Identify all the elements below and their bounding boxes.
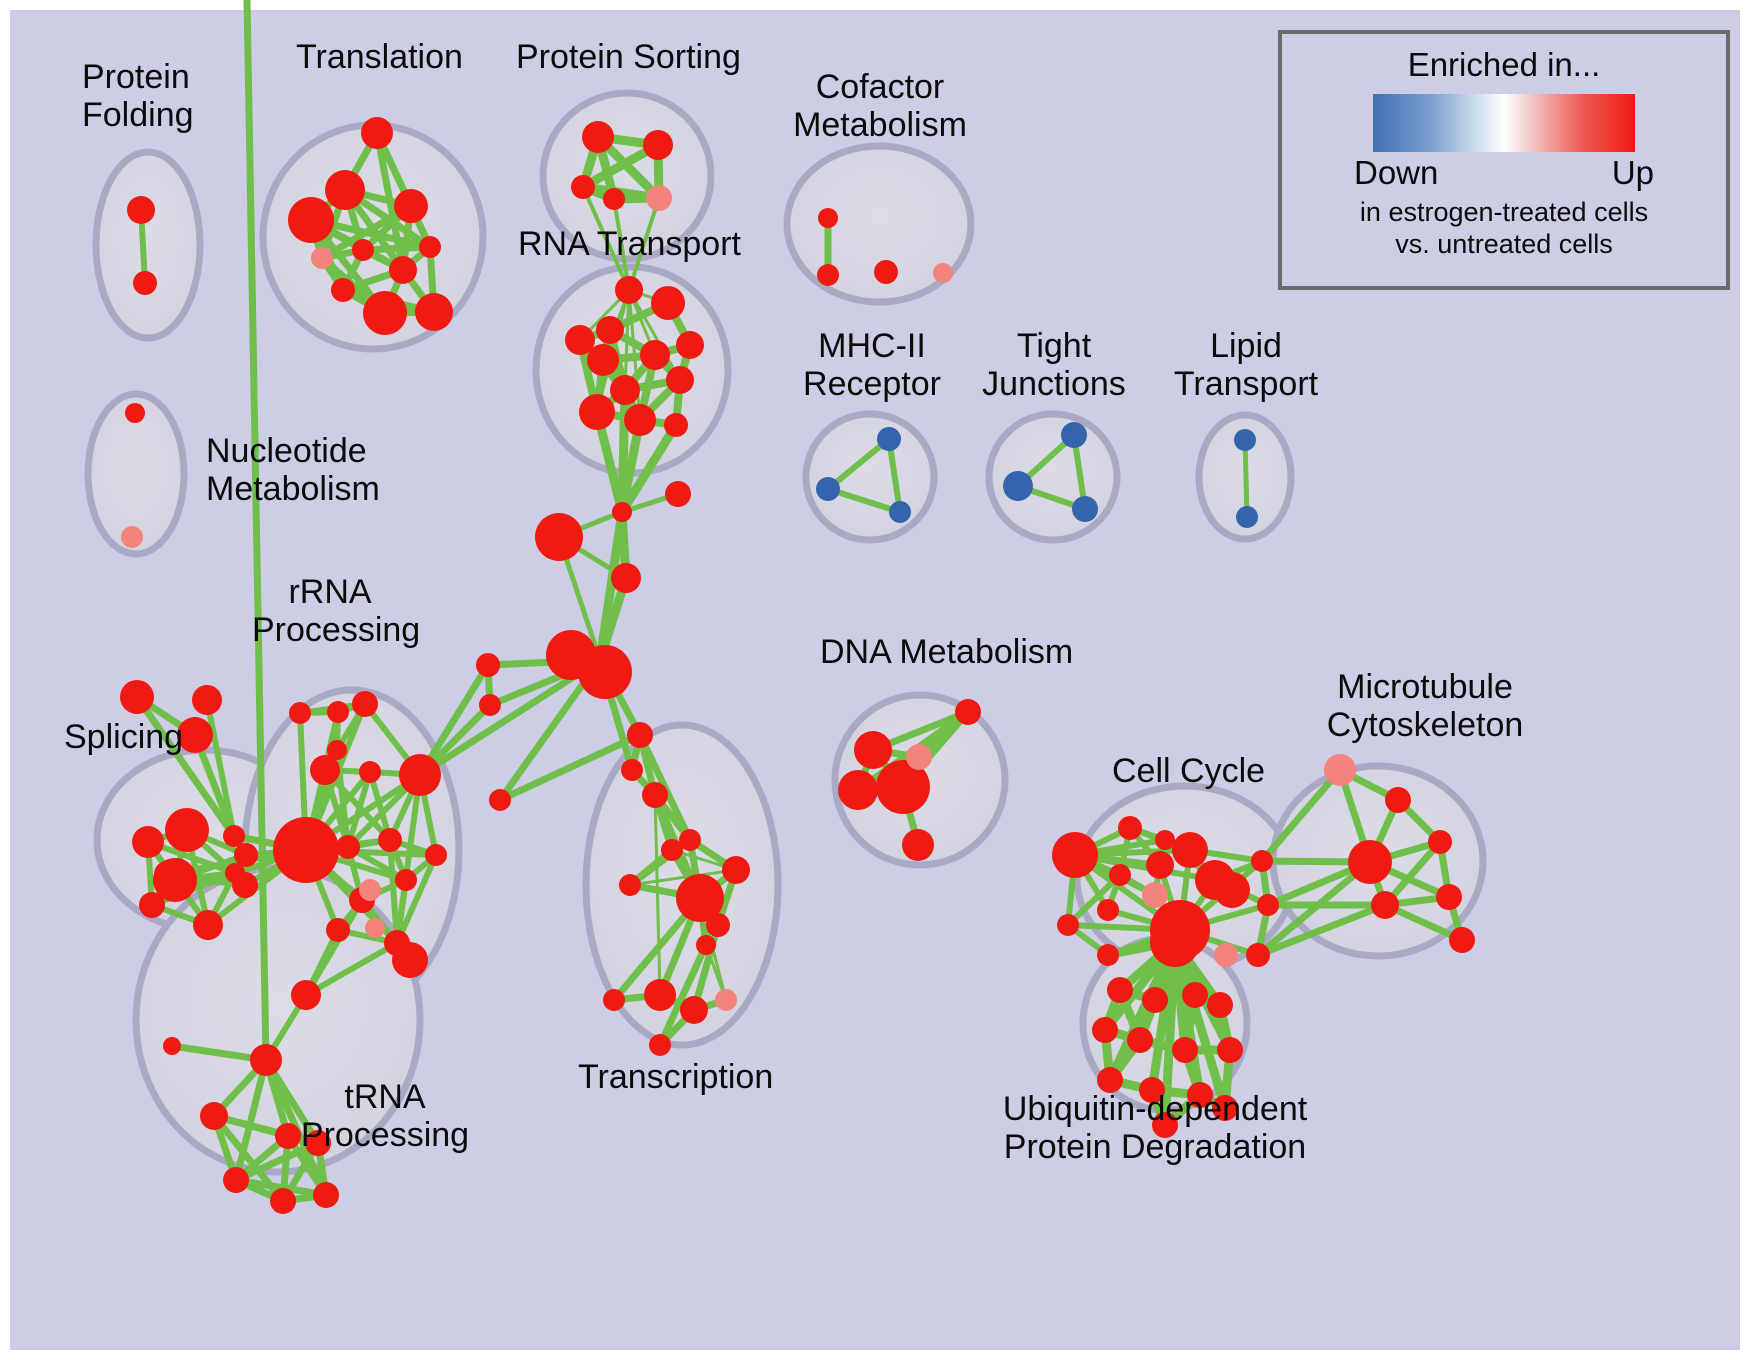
node	[378, 828, 402, 852]
node	[132, 826, 164, 858]
node	[854, 731, 892, 769]
label-dna-metabolism: DNA Metabolism	[820, 633, 1073, 671]
node	[352, 691, 378, 717]
node	[359, 761, 381, 783]
legend-box: Enriched in... Down Up in estrogen-treat…	[1278, 30, 1730, 290]
node	[535, 513, 583, 561]
node	[640, 340, 670, 370]
node	[288, 197, 334, 243]
halo-protein-folding	[96, 152, 200, 338]
node	[664, 413, 688, 437]
node	[1214, 943, 1238, 967]
node	[425, 844, 447, 866]
node	[289, 702, 311, 724]
node	[578, 645, 632, 699]
node	[676, 331, 704, 359]
node	[1003, 471, 1033, 501]
node	[874, 260, 898, 284]
node	[1109, 864, 1131, 886]
node	[579, 394, 615, 430]
node	[192, 685, 222, 715]
label-protein-sorting: Protein Sorting	[516, 38, 741, 76]
node	[619, 874, 641, 896]
node	[679, 829, 701, 851]
node	[627, 722, 653, 748]
node	[325, 170, 365, 210]
node	[1155, 830, 1175, 850]
node	[646, 185, 672, 211]
node	[165, 808, 209, 852]
node	[419, 236, 441, 258]
legend-colorbar	[1373, 94, 1635, 152]
node	[1217, 1037, 1243, 1063]
node	[121, 526, 143, 548]
node	[359, 879, 381, 901]
node	[1182, 982, 1208, 1008]
node	[250, 1044, 282, 1076]
node	[902, 829, 934, 861]
node	[906, 744, 932, 770]
node	[615, 276, 643, 304]
node	[643, 130, 673, 160]
node	[1449, 927, 1475, 953]
node	[1142, 882, 1168, 908]
node	[1127, 1027, 1153, 1053]
legend-low-label: Down	[1354, 154, 1438, 192]
node	[1052, 832, 1098, 878]
node	[352, 239, 374, 261]
label-tight-junctions: Tight Junctions	[978, 327, 1130, 403]
node	[313, 1182, 339, 1208]
node	[596, 316, 624, 344]
node	[1236, 506, 1258, 528]
node	[1150, 917, 1200, 967]
node	[889, 501, 911, 523]
label-microtubule-cytoskeleton: Microtubule Cytoskeleton	[1300, 668, 1550, 744]
node	[582, 121, 614, 153]
node	[327, 740, 347, 760]
node	[1371, 891, 1399, 919]
node	[399, 754, 441, 796]
node	[327, 701, 349, 723]
label-cell-cycle: Cell Cycle	[1112, 752, 1265, 790]
node	[587, 344, 619, 376]
legend-subtitle-line2: vs. untreated cells	[1282, 228, 1726, 260]
node	[395, 869, 417, 891]
node	[154, 861, 180, 887]
node	[200, 1102, 228, 1130]
node	[603, 188, 625, 210]
node	[818, 208, 838, 228]
node	[392, 942, 428, 978]
label-protein-folding: Protein Folding	[82, 58, 194, 134]
node	[838, 770, 878, 810]
node	[389, 256, 417, 284]
node	[394, 189, 428, 223]
node	[1057, 914, 1079, 936]
node	[644, 979, 676, 1011]
node	[877, 427, 901, 451]
node	[476, 653, 500, 677]
node	[331, 278, 355, 302]
node	[361, 117, 393, 149]
node	[1118, 816, 1142, 840]
node	[1146, 851, 1174, 879]
node	[612, 502, 632, 522]
node	[1097, 944, 1119, 966]
node	[1172, 1037, 1198, 1063]
node	[415, 293, 453, 331]
node	[1097, 899, 1119, 921]
legend-title: Enriched in...	[1282, 46, 1726, 84]
label-ubiquitin-protein-degradation: Ubiquitin-dependent Protein Degradation	[990, 1090, 1320, 1166]
node	[311, 247, 333, 269]
figure-canvas: Protein Folding Translation Protein Sort…	[0, 0, 1750, 1360]
node	[479, 694, 501, 716]
label-splicing: Splicing	[64, 718, 183, 756]
node	[603, 989, 625, 1011]
label-cofactor-metabolism: Cofactor Metabolism	[790, 68, 970, 144]
label-translation: Translation	[296, 38, 463, 76]
node	[649, 1034, 671, 1056]
node	[1207, 992, 1233, 1018]
label-mhc-ii-receptor: MHC-II Receptor	[792, 327, 952, 403]
label-rna-transport: RNA Transport	[518, 225, 741, 263]
node	[680, 996, 708, 1024]
node	[624, 404, 656, 436]
node	[651, 286, 685, 320]
node	[275, 1123, 301, 1149]
node	[816, 477, 840, 501]
node	[163, 1037, 181, 1055]
node	[1385, 787, 1411, 813]
node	[1324, 754, 1356, 786]
node	[1142, 987, 1168, 1013]
legend-high-label: Up	[1612, 154, 1654, 192]
node	[223, 1167, 249, 1193]
node	[365, 918, 385, 938]
halo-mhc2	[806, 414, 934, 540]
node	[666, 366, 694, 394]
node	[1436, 884, 1462, 910]
node	[1234, 429, 1256, 451]
node	[193, 910, 223, 940]
legend-endpoints: Down Up	[1354, 154, 1654, 192]
node	[336, 835, 360, 859]
node	[1428, 830, 1452, 854]
node	[665, 481, 691, 507]
node	[1061, 422, 1087, 448]
node	[955, 699, 981, 725]
node	[817, 264, 839, 286]
node	[270, 1188, 296, 1214]
node	[133, 271, 157, 295]
label-lipid-transport: Lipid Transport	[1166, 327, 1326, 403]
node	[722, 856, 750, 884]
node	[125, 403, 145, 423]
node	[489, 789, 511, 811]
node	[234, 843, 258, 867]
node	[139, 892, 165, 918]
node	[610, 375, 640, 405]
label-trna-processing: tRNA Processing	[300, 1078, 470, 1154]
node	[1092, 1017, 1118, 1043]
node	[363, 291, 407, 335]
node	[571, 175, 595, 199]
node	[715, 989, 737, 1011]
label-rrna-processing: rRNA Processing	[252, 573, 408, 649]
node	[1257, 894, 1279, 916]
label-nucleotide-metabolism: Nucleotide Metabolism	[206, 432, 380, 508]
node	[1348, 840, 1392, 884]
node	[127, 196, 155, 224]
node	[1172, 832, 1208, 868]
node	[706, 913, 730, 937]
node	[642, 782, 668, 808]
node	[1107, 977, 1133, 1003]
node	[326, 918, 350, 942]
node	[1214, 872, 1250, 908]
node	[1251, 850, 1273, 872]
legend-subtitle-line1: in estrogen-treated cells	[1282, 196, 1726, 228]
node	[120, 680, 154, 714]
label-transcription: Transcription	[578, 1058, 773, 1096]
node	[232, 872, 258, 898]
node	[1246, 943, 1270, 967]
node	[696, 935, 716, 955]
node	[621, 759, 643, 781]
node	[611, 563, 641, 593]
legend-subtitle: in estrogen-treated cells vs. untreated …	[1282, 196, 1726, 260]
node	[223, 825, 245, 847]
node	[273, 817, 339, 883]
node	[291, 980, 321, 1010]
node	[933, 263, 953, 283]
node	[1072, 496, 1098, 522]
